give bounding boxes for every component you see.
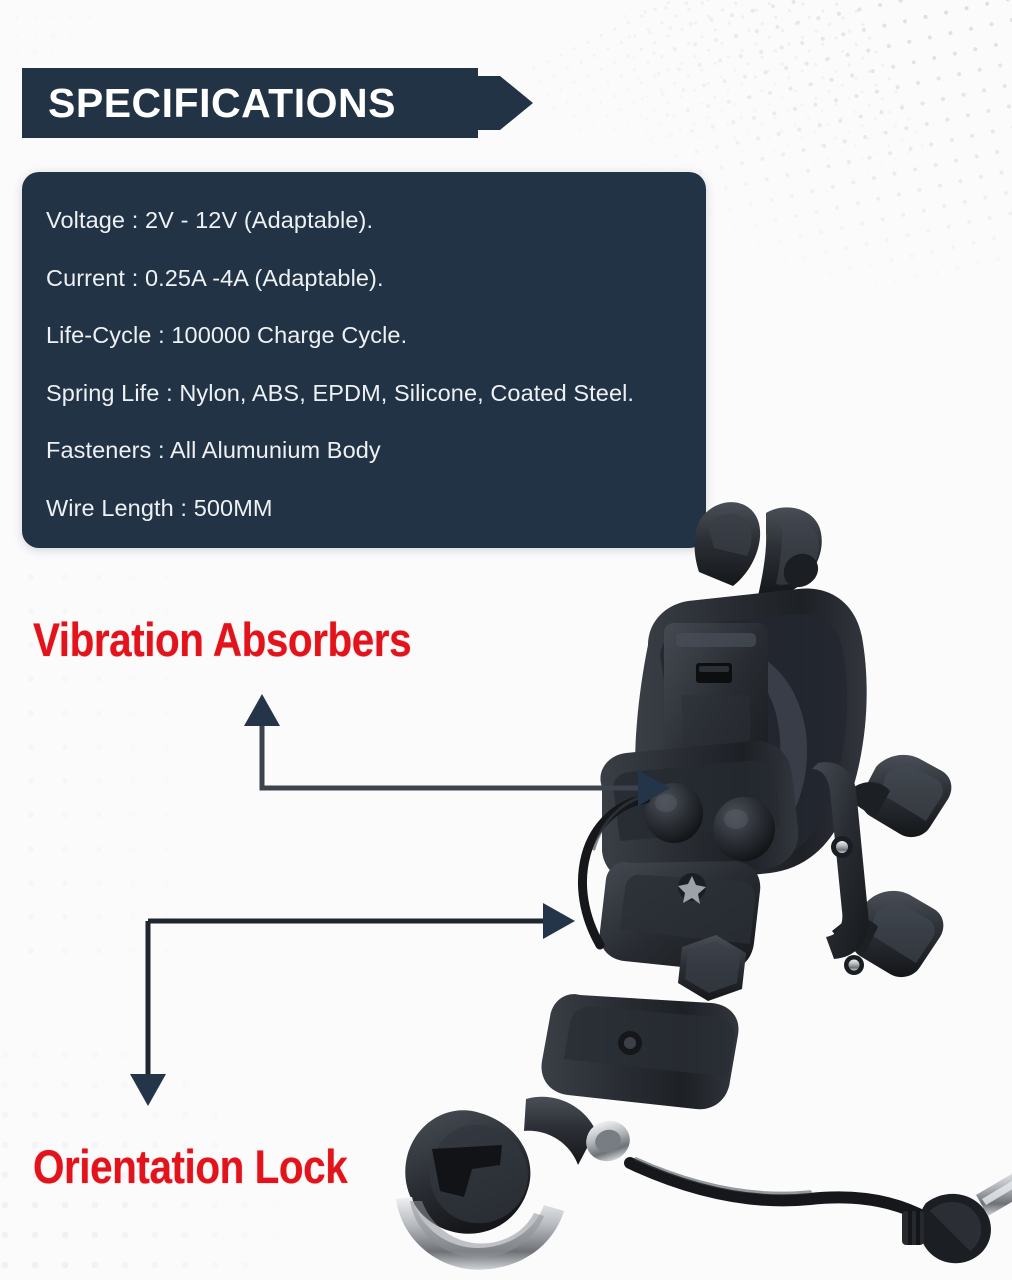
grip-clamp-upper [846,755,951,837]
specifications-panel: Voltage : 2V - 12V (Adaptable). Current … [22,172,706,548]
phone-holder-illustration-icon [330,495,1012,1280]
annotation-label-orientation-lock: Orientation Lock [33,1139,347,1194]
infographic-page: SPECIFICATIONS Voltage : 2V - 12V (Adapt… [0,0,1012,1280]
product-image-phone-holder [330,495,1012,1280]
specifications-list: Voltage : 2V - 12V (Adaptable). Current … [46,192,692,537]
spec-item-current: Current : 0.25A -4A (Adaptable). [46,250,692,308]
spec-item-life-cycle: Life-Cycle : 100000 Charge Cycle. [46,307,692,365]
dc-barrel-connector [902,1164,1012,1264]
spec-item-voltage: Voltage : 2V - 12V (Adaptable). [46,192,692,250]
spec-item-fasteners: Fasteners : All Alumunium Body [46,422,692,480]
page-title: SPECIFICATIONS [48,68,396,138]
orientation-lock-base [396,1097,635,1270]
spec-item-spring-life: Spring Life : Nylon, ABS, EPDM, Silicone… [46,365,692,423]
specifications-banner: SPECIFICATIONS [22,68,533,138]
annotation-label-vibration-absorbers: Vibration Absorbers [33,612,411,667]
